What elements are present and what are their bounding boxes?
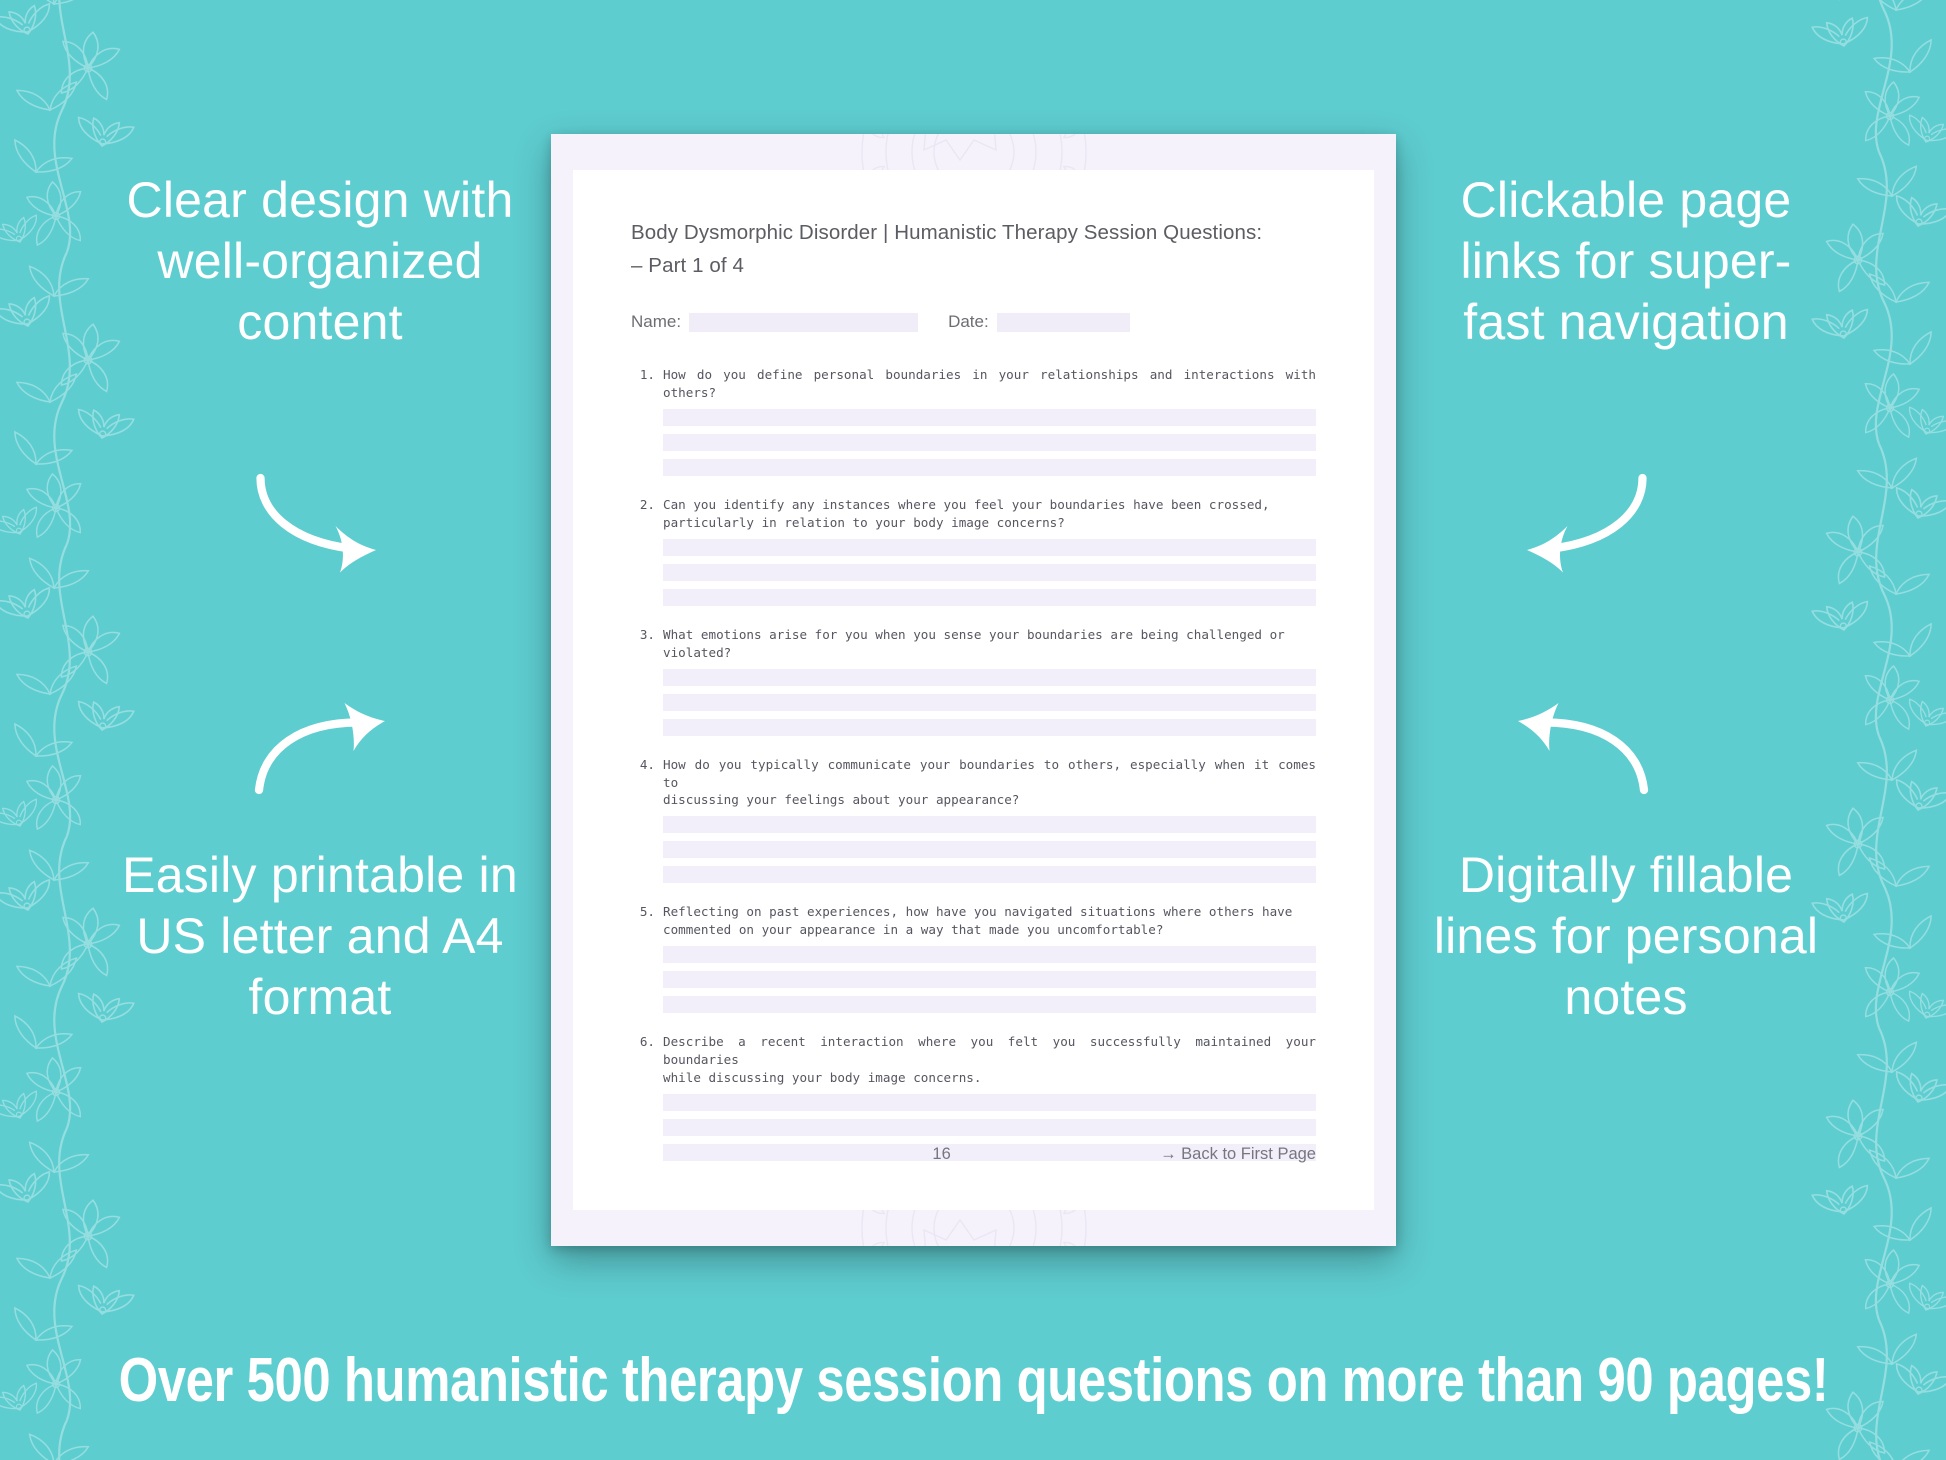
answer-line[interactable]	[663, 996, 1316, 1013]
answer-lines	[663, 946, 1316, 1013]
curved-arrow-up-left-icon	[1485, 688, 1665, 808]
answer-line[interactable]	[663, 539, 1316, 556]
question-item: 6.Describe a recent interaction where yo…	[631, 1033, 1316, 1161]
answer-line[interactable]	[663, 816, 1316, 833]
back-to-first-page-link[interactable]: → Back to First Page	[1160, 1145, 1316, 1164]
feature-text-bottom-right: Digitally fillable lines for personal no…	[1426, 845, 1826, 1028]
question-item: 4.How do you typically communicate your …	[631, 756, 1316, 884]
question-body: What emotions arise for you when you sen…	[655, 626, 1316, 736]
question-body: Reflecting on past experiences, how have…	[655, 903, 1316, 1013]
name-input[interactable]	[689, 313, 918, 332]
answer-lines	[663, 669, 1316, 736]
answer-lines	[663, 816, 1316, 883]
feature-text-top-left: Clear design with well-organized content	[120, 170, 520, 353]
answer-line[interactable]	[663, 564, 1316, 581]
answer-lines	[663, 539, 1316, 606]
question-number: 1.	[631, 366, 655, 476]
question-body: How do you define personal boundaries in…	[655, 366, 1316, 476]
worksheet-footer: 16 → Back to First Page	[631, 1145, 1316, 1164]
answer-line[interactable]	[663, 946, 1316, 963]
question-text: What emotions arise for you when you sen…	[663, 626, 1316, 662]
worksheet-document-preview[interactable]: Body Dysmorphic Disorder | Humanistic Th…	[551, 134, 1396, 1246]
feature-text-bottom-left: Easily printable in US letter and A4 for…	[120, 845, 520, 1028]
answer-line[interactable]	[663, 409, 1316, 426]
question-item: 5.Reflecting on past experiences, how ha…	[631, 903, 1316, 1013]
question-text: How do you typically communicate your bo…	[663, 756, 1316, 810]
question-text: Reflecting on past experiences, how have…	[663, 903, 1316, 939]
question-item: 2.Can you identify any instances where y…	[631, 496, 1316, 606]
answer-lines	[663, 409, 1316, 476]
name-label: Name:	[631, 312, 681, 332]
answer-line[interactable]	[663, 1119, 1316, 1136]
question-text: Can you identify any instances where you…	[663, 496, 1316, 532]
question-number: 6.	[631, 1033, 655, 1161]
bottom-promo-text: Over 500 humanistic therapy session ques…	[118, 1345, 1828, 1416]
question-item: 3.What emotions arise for you when you s…	[631, 626, 1316, 736]
worksheet-title-line-2: – Part 1 of 4	[631, 249, 1316, 282]
date-input[interactable]	[997, 313, 1130, 332]
question-text: Describe a recent interaction where you …	[663, 1033, 1316, 1087]
answer-line[interactable]	[663, 589, 1316, 606]
name-date-row: Name: Date:	[631, 312, 1316, 332]
question-text: How do you define personal boundaries in…	[663, 366, 1316, 402]
curved-arrow-down-right-icon	[238, 455, 418, 585]
answer-line[interactable]	[663, 866, 1316, 883]
worksheet-title: Body Dysmorphic Disorder | Humanistic Th…	[631, 216, 1316, 282]
bottom-promo-banner: Over 500 humanistic therapy session ques…	[0, 1300, 1946, 1460]
curved-arrow-down-left-icon	[1485, 455, 1665, 585]
worksheet-page: Body Dysmorphic Disorder | Humanistic Th…	[573, 170, 1374, 1210]
feature-text-top-right: Clickable page links for super-fast navi…	[1426, 170, 1826, 353]
question-list: 1.How do you define personal boundaries …	[631, 366, 1316, 1160]
question-body: How do you typically communicate your bo…	[655, 756, 1316, 884]
question-body: Can you identify any instances where you…	[655, 496, 1316, 606]
answer-line[interactable]	[663, 459, 1316, 476]
worksheet-title-line-1: Body Dysmorphic Disorder | Humanistic Th…	[631, 216, 1316, 249]
answer-line[interactable]	[663, 719, 1316, 736]
date-label: Date:	[948, 312, 989, 332]
curved-arrow-up-right-icon	[238, 688, 418, 808]
question-number: 2.	[631, 496, 655, 606]
question-number: 3.	[631, 626, 655, 736]
question-number: 5.	[631, 903, 655, 1013]
answer-line[interactable]	[663, 971, 1316, 988]
answer-line[interactable]	[663, 669, 1316, 686]
question-item: 1.How do you define personal boundaries …	[631, 366, 1316, 476]
page-number: 16	[932, 1145, 950, 1164]
answer-line[interactable]	[663, 1094, 1316, 1111]
answer-line[interactable]	[663, 434, 1316, 451]
question-number: 4.	[631, 756, 655, 884]
question-body: Describe a recent interaction where you …	[655, 1033, 1316, 1161]
answer-line[interactable]	[663, 841, 1316, 858]
answer-line[interactable]	[663, 694, 1316, 711]
